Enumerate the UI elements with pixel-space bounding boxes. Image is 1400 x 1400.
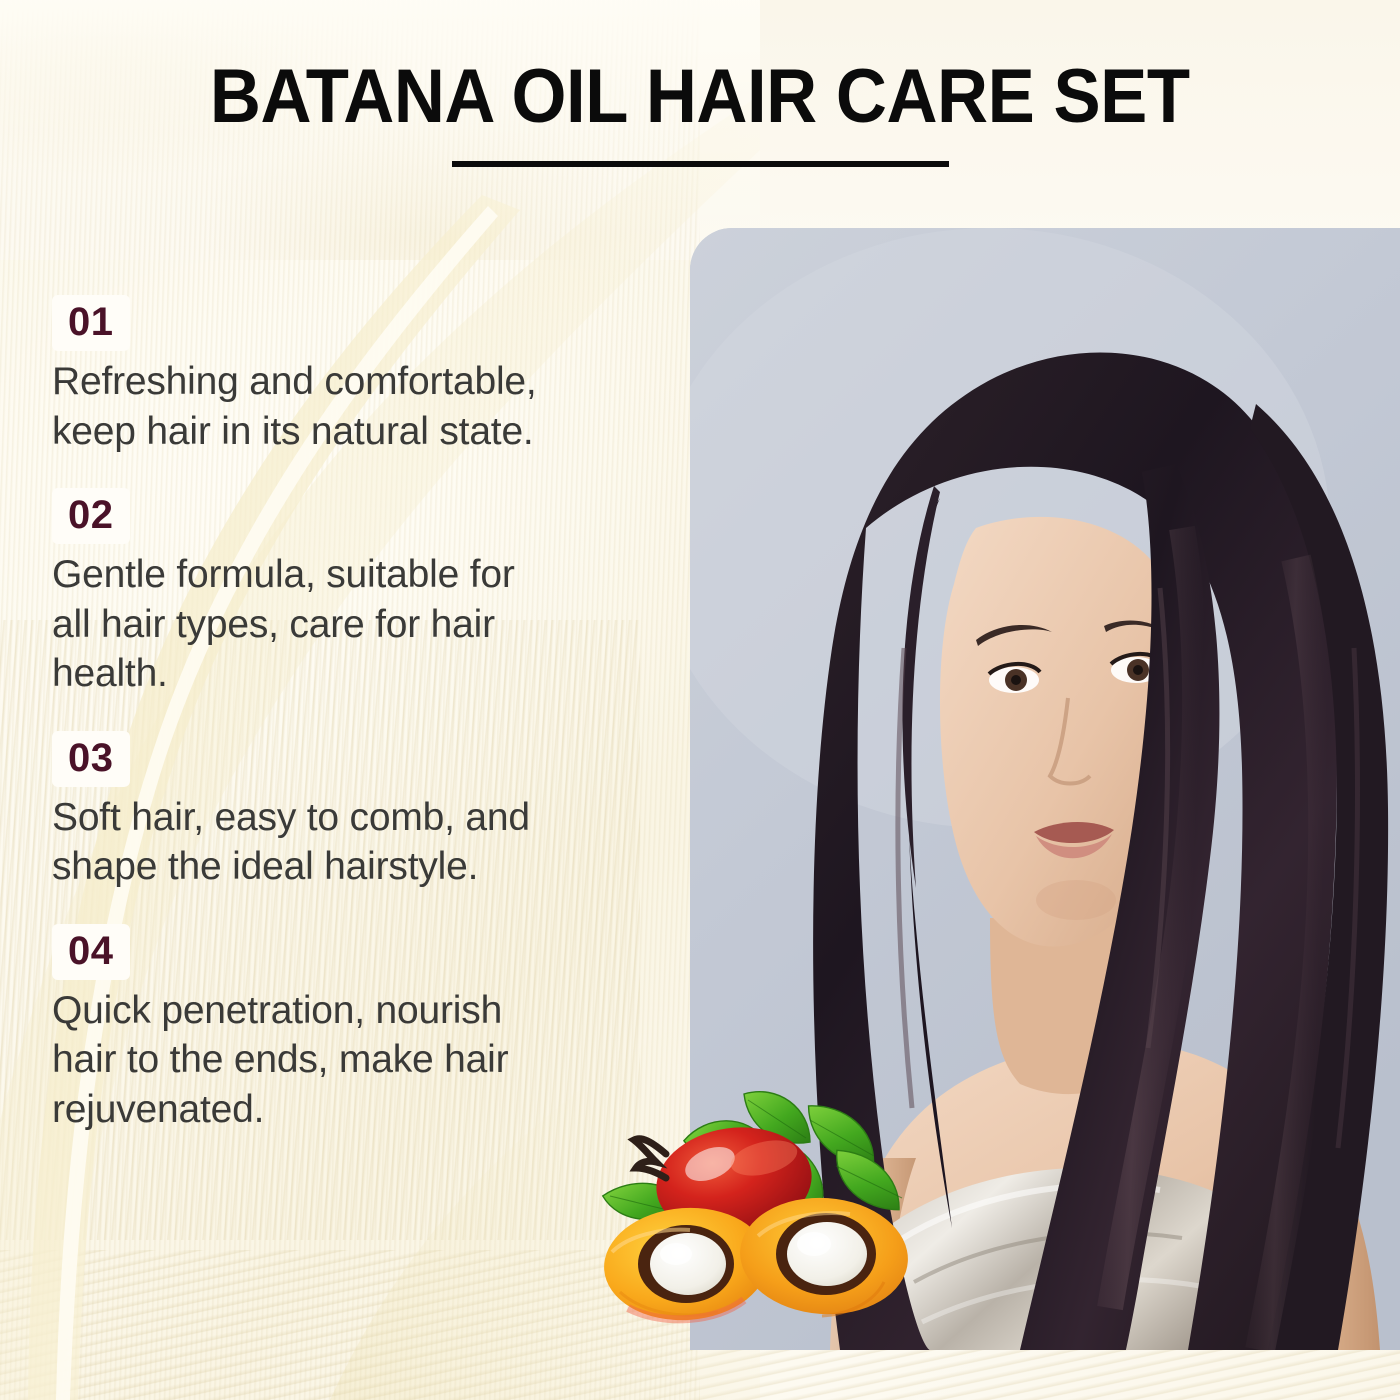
feature-description: Quick penetration, nourish hair to the e… bbox=[52, 986, 652, 1135]
feature-description: Refreshing and comfortable, keep hair in… bbox=[52, 357, 652, 456]
feature-item: 02 Gentle formula, suitable for all hair… bbox=[52, 488, 652, 699]
poster-header: BATANA OIL HAIR CARE SET bbox=[0, 0, 1400, 215]
feature-item: 03 Soft hair, easy to comb, and shape th… bbox=[52, 731, 652, 892]
feature-list: 01 Refreshing and comfortable, keep hair… bbox=[52, 295, 652, 1134]
feature-number-badge: 03 bbox=[52, 731, 130, 787]
feature-number-badge: 02 bbox=[52, 488, 130, 544]
feature-item: 04 Quick penetration, nourish hair to th… bbox=[52, 924, 652, 1135]
feature-number-badge: 01 bbox=[52, 295, 130, 351]
feature-number-badge: 04 bbox=[52, 924, 130, 980]
feature-description: Gentle formula, suitable for all hair ty… bbox=[52, 550, 652, 699]
product-feature-poster: BATANA OIL HAIR CARE SET 01 Refreshing a… bbox=[0, 0, 1400, 1400]
feature-item: 01 Refreshing and comfortable, keep hair… bbox=[52, 295, 652, 456]
page-title: BATANA OIL HAIR CARE SET bbox=[210, 59, 1190, 135]
model-photo-illustration bbox=[690, 228, 1400, 1350]
title-divider bbox=[452, 161, 949, 167]
hero-photo bbox=[690, 228, 1400, 1350]
feature-description: Soft hair, easy to comb, and shape the i… bbox=[52, 793, 652, 892]
